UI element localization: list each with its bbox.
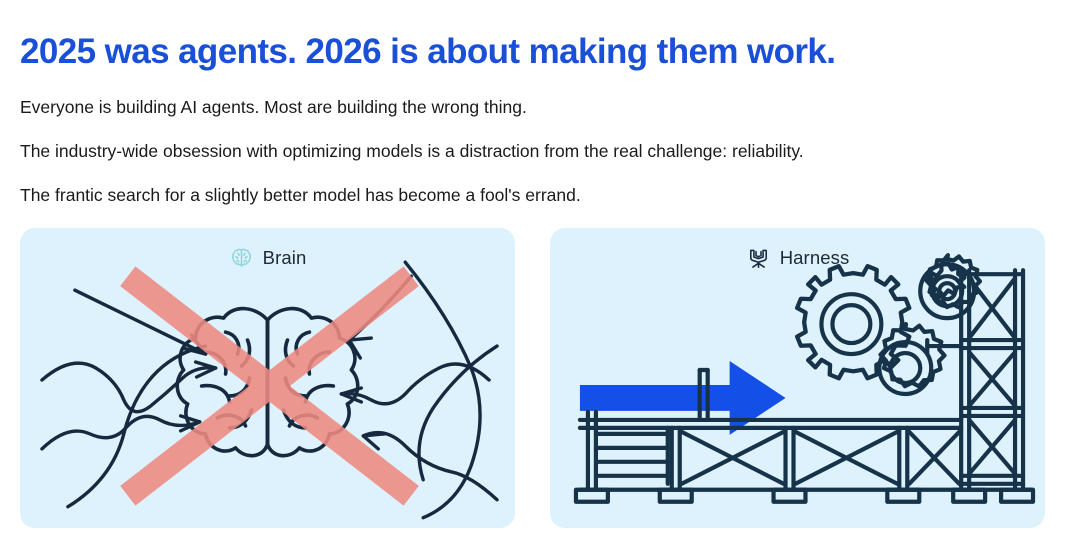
gear-medium — [879, 324, 944, 394]
page-title: 2025 was agents. 2026 is about making th… — [20, 30, 835, 74]
blue-arrow-icon — [580, 361, 786, 435]
harness-illustration — [550, 228, 1045, 528]
panel-brain: Brain — [20, 228, 515, 528]
brain-illustration — [20, 228, 515, 528]
slide-canvas: 2025 was agents. 2026 is about making th… — [0, 0, 1080, 553]
body-paragraph-2: The industry-wide obsession with optimiz… — [20, 139, 804, 163]
cross-out-mark — [128, 276, 411, 496]
panel-harness: Harness — [550, 228, 1045, 528]
body-paragraph-3: The frantic search for a slightly better… — [20, 183, 581, 207]
comparison-panels: Brain — [20, 228, 1045, 528]
body-paragraph-1: Everyone is building AI agents. Most are… — [20, 95, 527, 119]
